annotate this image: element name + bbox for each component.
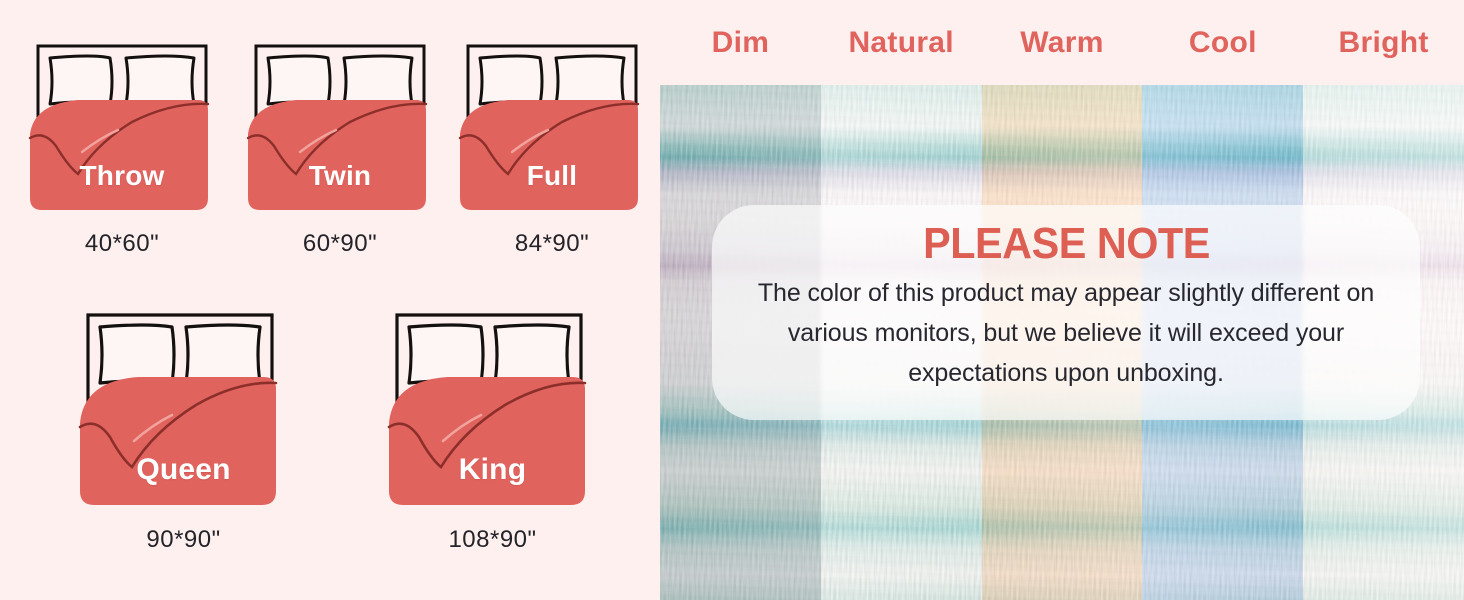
bed-icon: Queen (76, 305, 291, 520)
lighting-label-cool: Cool (1142, 0, 1303, 85)
lighting-label-bright: Bright (1303, 0, 1464, 85)
bed-size-card-throw: Throw 40*60" (22, 34, 222, 258)
lighting-label-warm: Warm (982, 0, 1143, 85)
color-disclaimer-card: PLEASE NOTE The color of this product ma… (712, 205, 1420, 420)
bed-size-dimensions: 84*90" (452, 230, 652, 258)
bed-size-card-twin: Twin 60*90" (240, 34, 440, 258)
color-appearance-panel: Dim Natural Warm Cool Bright PLEASE NOT (660, 0, 1464, 600)
bed-icon: King (385, 305, 600, 520)
bed-icon: Throw (22, 34, 222, 224)
lighting-label-dim: Dim (660, 0, 821, 85)
bed-size-card-full: Full 84*90" (452, 34, 652, 258)
bed-size-dimensions: 60*90" (240, 230, 440, 258)
bed-size-card-queen: Queen 90*90" (76, 305, 291, 554)
lighting-label-natural: Natural (821, 0, 982, 85)
bed-size-dimensions: 90*90" (76, 526, 291, 554)
bed-size-card-king: King 108*90" (385, 305, 600, 554)
notice-body: The color of this product may appear sli… (736, 273, 1396, 393)
product-infographic: Throw 40*60" Twin 60*90" (0, 0, 1464, 600)
bed-size-dimensions: 40*60" (22, 230, 222, 258)
bed-icon: Twin (240, 34, 440, 224)
bed-size-dimensions: 108*90" (385, 526, 600, 554)
bed-size-chart: Throw 40*60" Twin 60*90" (0, 0, 660, 600)
notice-title: PLEASE NOTE (923, 219, 1210, 269)
lighting-condition-labels: Dim Natural Warm Cool Bright (660, 0, 1464, 85)
fabric-swatch-grid: PLEASE NOTE The color of this product ma… (660, 85, 1464, 600)
bed-icon: Full (452, 34, 652, 224)
